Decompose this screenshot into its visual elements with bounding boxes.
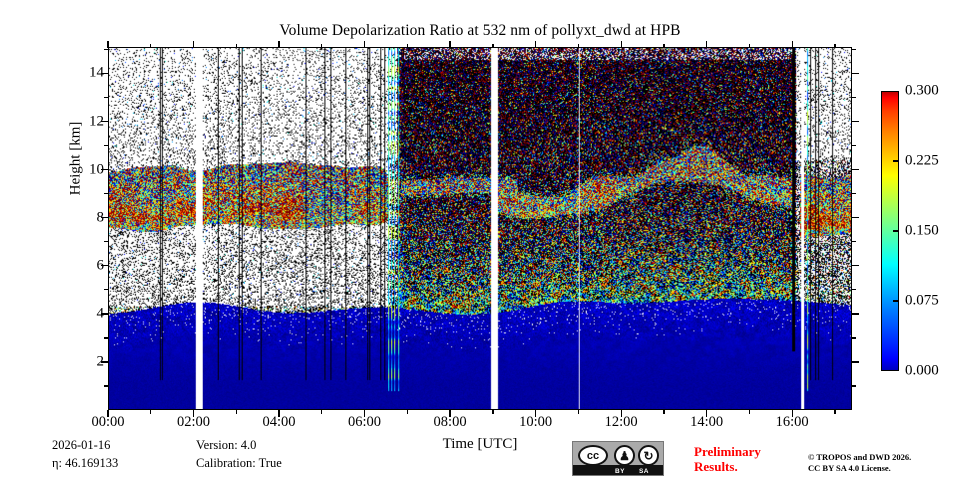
- x-tick-mark: [535, 41, 536, 48]
- colorbar-tick-mark: [893, 230, 899, 231]
- x-minor-tick: [663, 44, 664, 48]
- x-minor-tick: [663, 410, 664, 414]
- y-tick-mark: [852, 361, 859, 362]
- chart-title: Volume Depolarization Ratio at 532 nm of…: [108, 22, 852, 40]
- x-minor-tick: [834, 44, 835, 48]
- x-minor-tick: [236, 44, 237, 48]
- copyright-notice: © TROPOS and DWD 2026. CC BY SA 4.0 Lice…: [808, 452, 911, 474]
- x-tick-mark: [107, 41, 108, 48]
- y-minor-tick: [104, 337, 108, 338]
- copyright-line-1: © TROPOS and DWD 2026.: [808, 452, 911, 463]
- x-minor-tick: [321, 44, 322, 48]
- y-minor-tick: [104, 241, 108, 242]
- x-tick-mark: [278, 41, 279, 48]
- y-tick-mark: [101, 217, 108, 218]
- footer-version: Version: 4.0: [196, 438, 256, 453]
- x-minor-tick: [150, 44, 151, 48]
- y-minor-tick: [852, 337, 856, 338]
- x-tick-mark: [706, 41, 707, 48]
- badge-sa-label: SA: [639, 468, 649, 475]
- x-tick-mark: [364, 410, 365, 417]
- colorbar-tick-label: 0.225: [905, 153, 939, 170]
- footer-eta: η: 46.169133: [52, 456, 118, 471]
- y-minor-tick: [104, 193, 108, 194]
- x-minor-tick: [749, 44, 750, 48]
- preliminary-line-1: Preliminary: [694, 444, 761, 459]
- x-tick-mark: [278, 410, 279, 417]
- cc-sa-share-icon: ↻: [638, 445, 659, 466]
- x-minor-tick: [834, 410, 835, 414]
- y-minor-tick: [852, 97, 856, 98]
- y-tick-label: 4: [44, 305, 104, 322]
- x-tick-mark: [449, 41, 450, 48]
- y-tick-mark: [852, 169, 859, 170]
- y-minor-tick: [852, 385, 856, 386]
- colorbar-tick-label: 0.000: [905, 363, 939, 380]
- x-tick-mark: [535, 410, 536, 417]
- x-tick-mark: [193, 41, 194, 48]
- x-tick-mark: [107, 410, 108, 417]
- colorbar-tick-mark: [893, 300, 899, 301]
- y-minor-tick: [852, 49, 856, 50]
- cc-icon: cc: [578, 445, 608, 466]
- y-minor-tick: [104, 49, 108, 50]
- y-tick-mark: [101, 313, 108, 314]
- cc-by-person-icon: ♟: [614, 445, 635, 466]
- footer-date: 2026-01-16: [52, 438, 110, 453]
- y-minor-tick: [104, 145, 108, 146]
- colorbar-tick-mark: [893, 160, 899, 161]
- x-tick-mark: [621, 410, 622, 417]
- colorbar-tick-label: 0.300: [905, 83, 939, 100]
- cc-license-badge: cc ♟ ↻ BY SA: [572, 441, 664, 476]
- y-minor-tick: [852, 193, 856, 194]
- y-tick-mark: [852, 73, 859, 74]
- y-tick-label: 8: [44, 209, 104, 226]
- x-minor-tick: [321, 410, 322, 414]
- figure-canvas: Volume Depolarization Ratio at 532 nm of…: [0, 0, 960, 480]
- preliminary-notice: Preliminary Results.: [694, 444, 761, 474]
- y-tick-mark: [101, 121, 108, 122]
- y-tick-mark: [101, 361, 108, 362]
- y-tick-mark: [852, 313, 859, 314]
- y-tick-mark: [852, 121, 859, 122]
- x-tick-mark: [792, 410, 793, 417]
- y-tick-label: 6: [44, 257, 104, 274]
- colorbar-tick-label: 0.150: [905, 223, 939, 240]
- y-tick-label: 14: [44, 65, 104, 82]
- x-minor-tick: [749, 410, 750, 414]
- x-minor-tick: [407, 410, 408, 414]
- y-tick-mark: [101, 73, 108, 74]
- plot-area: [108, 47, 852, 410]
- x-tick-mark: [193, 410, 194, 417]
- y-tick-label: 2: [44, 353, 104, 370]
- preliminary-line-2: Results.: [694, 459, 761, 474]
- x-tick-mark: [792, 41, 793, 48]
- x-tick-mark: [706, 410, 707, 417]
- y-minor-tick: [104, 97, 108, 98]
- copyright-line-2: CC BY SA 4.0 License.: [808, 463, 911, 474]
- y-tick-mark: [101, 265, 108, 266]
- footer-calibration: Calibration: True: [196, 456, 282, 471]
- colorbar-tick-label: 0.075: [905, 293, 939, 310]
- x-tick-mark: [364, 41, 365, 48]
- y-tick-label: 12: [44, 113, 104, 130]
- y-minor-tick: [104, 289, 108, 290]
- x-minor-tick: [492, 410, 493, 414]
- x-tick-mark: [621, 41, 622, 48]
- y-tick-mark: [852, 265, 859, 266]
- y-minor-tick: [852, 145, 856, 146]
- y-minor-tick: [852, 289, 856, 290]
- depolarization-heatmap: [109, 48, 851, 409]
- x-minor-tick: [492, 44, 493, 48]
- y-tick-label: 10: [44, 161, 104, 178]
- y-minor-tick: [104, 385, 108, 386]
- x-minor-tick: [150, 410, 151, 414]
- x-minor-tick: [407, 44, 408, 48]
- y-minor-tick: [852, 241, 856, 242]
- x-minor-tick: [578, 410, 579, 414]
- y-tick-mark: [852, 217, 859, 218]
- badge-by-label: BY: [615, 468, 625, 475]
- y-tick-mark: [101, 169, 108, 170]
- x-minor-tick: [578, 44, 579, 48]
- x-minor-tick: [236, 410, 237, 414]
- x-tick-mark: [449, 410, 450, 417]
